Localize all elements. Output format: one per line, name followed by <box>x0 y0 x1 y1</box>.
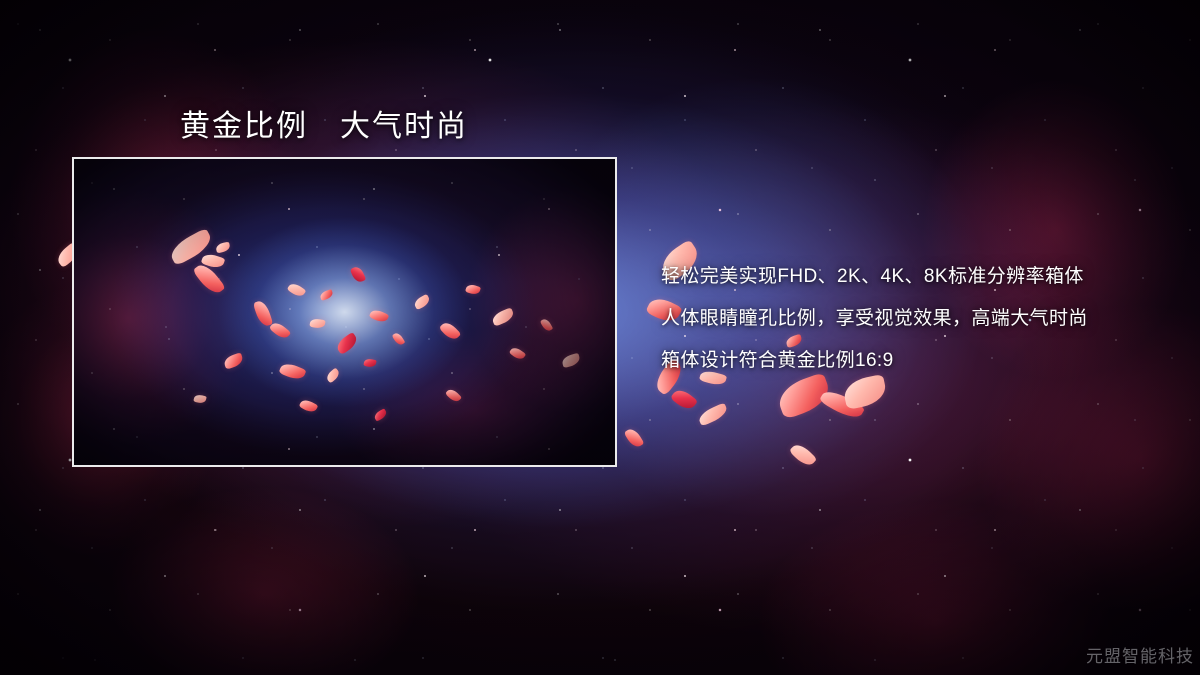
body-line-2: 人体眼睛瞳孔比例，享受视觉效果，高端大气时尚 <box>661 298 1181 340</box>
framed-image[interactable] <box>72 157 617 467</box>
body-line-3: 箱体设计符合黄金比例16:9 <box>661 340 1181 382</box>
slide-canvas: 黄金比例 大气时尚 轻松完美实现FHD、2K、4K、8K标准分辨率箱体 人体眼睛… <box>0 0 1200 675</box>
page-title: 黄金比例 大气时尚 <box>180 101 468 145</box>
framed-image-vignette <box>74 159 615 465</box>
watermark: 元盟智能科技 <box>1086 642 1194 667</box>
body-line-1: 轻松完美实现FHD、2K、4K、8K标准分辨率箱体 <box>661 256 1181 298</box>
body-copy-block: 轻松完美实现FHD、2K、4K、8K标准分辨率箱体 人体眼睛瞳孔比例，享受视觉效… <box>661 256 1181 382</box>
framed-image-content <box>74 159 615 465</box>
